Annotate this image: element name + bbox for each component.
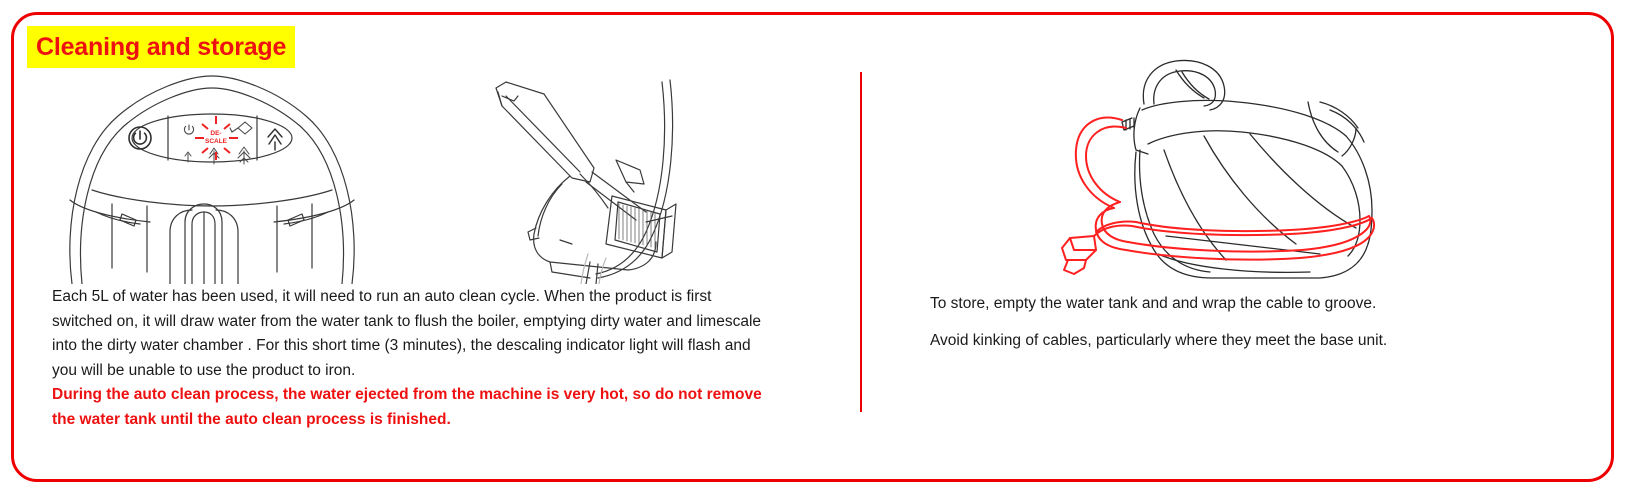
control-panel-illustration: DE- SCALE (52, 72, 372, 284)
column-divider (860, 72, 862, 412)
page-title-text: Cleaning and storage (27, 26, 295, 68)
left-text-block: Each 5L of water has been used, it will … (52, 285, 774, 432)
plug (1062, 236, 1096, 260)
boiler-chamber-illustration (440, 72, 730, 284)
power-cable (1062, 118, 1374, 274)
auto-clean-warning: During the auto clean process, the water… (52, 383, 774, 432)
steam-boost-button-icon (268, 129, 282, 150)
storage-instruction-line-1: To store, empty the water tank and and w… (930, 292, 1490, 317)
auto-clean-description: Each 5L of water has been used, it will … (52, 285, 774, 383)
right-text-block: To store, empty the water tank and and w… (930, 292, 1490, 365)
storage-illustration (990, 58, 1380, 290)
water-fill-indicator-icon (230, 122, 252, 134)
lid-panel (496, 82, 594, 182)
high-steam-indicator-icon (238, 147, 250, 164)
power-indicator-icon (184, 125, 193, 134)
iron-body-top (1142, 100, 1346, 136)
page-root: Cleaning and storage (0, 0, 1627, 496)
page-title: Cleaning and storage (27, 26, 295, 68)
descale-label-line2: SCALE (205, 138, 228, 145)
storage-instruction-line-2: Avoid kinking of cables, particularly wh… (930, 329, 1490, 354)
descale-label-line1: DE- (210, 130, 221, 137)
